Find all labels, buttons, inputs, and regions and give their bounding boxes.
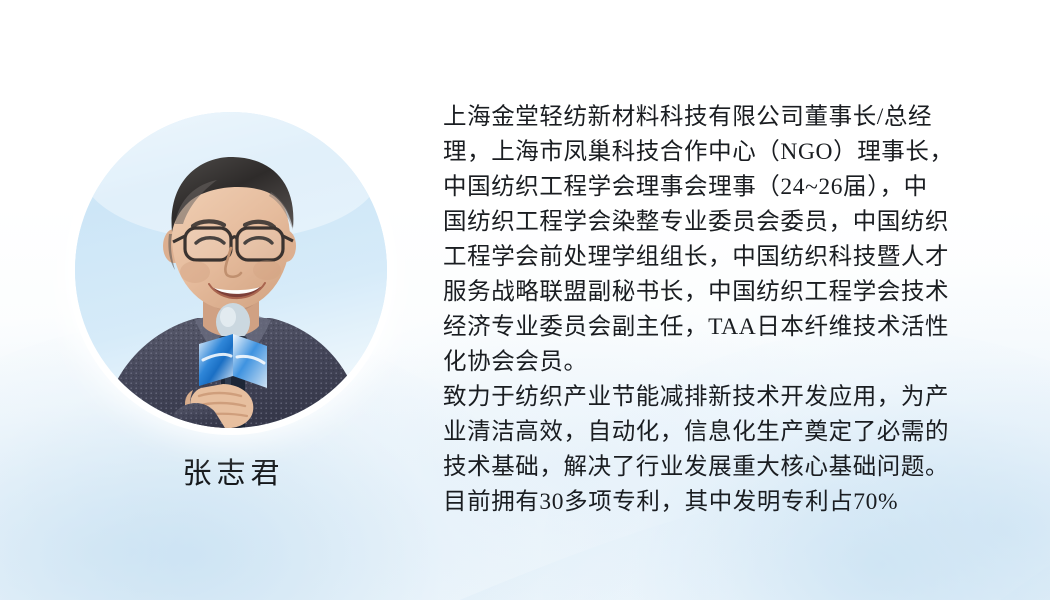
bio-line: 化协会会员。	[443, 345, 971, 380]
bio-line: 国纺织工程学会染整专业委员会委员，中国纺织	[443, 205, 971, 240]
bio-line: 目前拥有30多项专利，其中发明专利占70%	[443, 485, 971, 520]
speaker-photo-illustration	[75, 112, 387, 428]
bio-line: 工程学会前处理学组组长，中国纺织科技暨人才	[443, 240, 971, 275]
bio-line: 中国纺织工程学会理事会理事（24~26届），中	[443, 170, 971, 205]
bio-line: 经济专业委员会副主任，TAA日本纤维技术活性	[443, 310, 971, 345]
speaker-bio: 上海金堂轻纺新材料科技有限公司董事长/总经 理，上海市凤巢科技合作中心（NGO）…	[443, 100, 971, 520]
wave-ribbon-5	[470, 570, 1050, 600]
bio-line: 服务战略联盟副秘书长，中国纺织工程学会技术	[443, 275, 971, 310]
speaker-profile-slide: 张志君 上海金堂轻纺新材料科技有限公司董事长/总经 理，上海市凤巢科技合作中心（…	[0, 0, 1050, 600]
speaker-name: 张志君	[75, 450, 387, 492]
bio-line: 致力于纺织产业节能减排新技术开发应用，为产	[443, 380, 971, 415]
avatar	[75, 112, 387, 428]
bio-line: 上海金堂轻纺新材料科技有限公司董事长/总经	[443, 100, 971, 135]
speaker-portrait-block: 张志君	[75, 112, 387, 492]
bio-line: 业清洁高效，自动化，信息化生产奠定了必需的	[443, 415, 971, 450]
bio-line: 理，上海市凤巢科技合作中心（NGO）理事长，	[443, 135, 971, 170]
bio-line: 技术基础，解决了行业发展重大核心基础问题。	[443, 450, 971, 485]
